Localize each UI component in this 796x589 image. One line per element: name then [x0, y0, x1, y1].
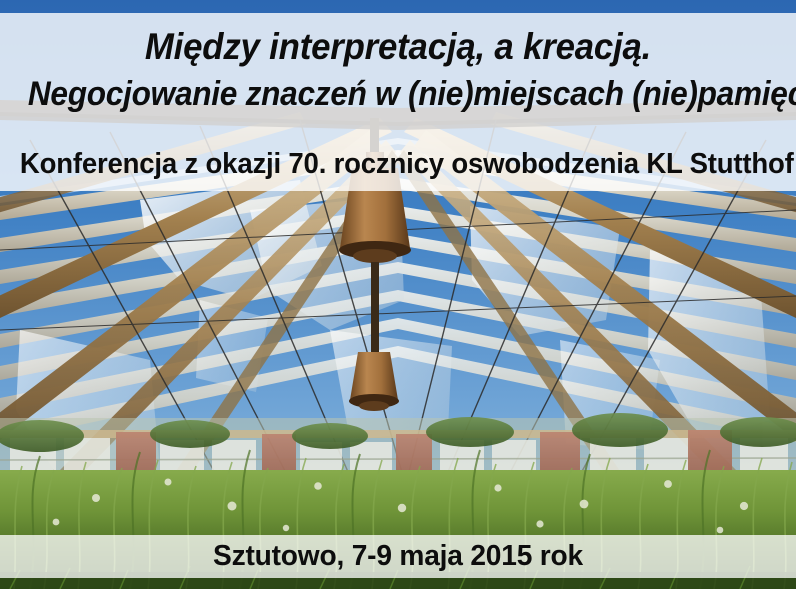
conference-poster: Między interpretacją, a kreacją. Negocjo… — [0, 0, 796, 589]
poster-subtitle: Konferencja z okazji 70. rocznicy oswobo… — [20, 150, 776, 179]
poster-title-line-1: Między interpretacją, a kreacją. — [24, 28, 772, 65]
poster-footer-location-date: Sztutowo, 7-9 maja 2015 rok — [12, 542, 784, 571]
poster-title-line-2: Negocjowanie znaczeń w (nie)miejscach (n… — [28, 77, 768, 111]
